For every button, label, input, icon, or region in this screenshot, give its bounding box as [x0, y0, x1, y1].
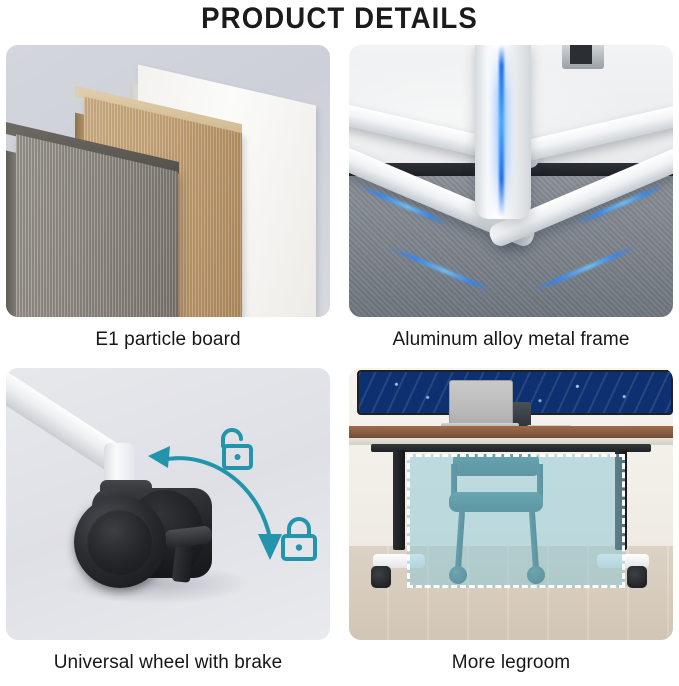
laptop — [449, 380, 513, 426]
caption-universal-wheel: Universal wheel with brake — [6, 640, 330, 686]
caption-particle-board: E1 particle board — [6, 317, 330, 363]
desk-top-surface — [349, 426, 673, 438]
detail-cell-universal-wheel: Universal wheel with brake — [6, 368, 330, 686]
desk-caster-left — [371, 566, 391, 588]
page-title: PRODUCT DETAILS — [27, 2, 652, 36]
column-glow-core — [499, 45, 504, 217]
legroom-photo — [349, 368, 673, 640]
caption-legroom: More legroom — [349, 640, 673, 686]
legroom-highlight-area — [407, 454, 625, 588]
product-details-page: PRODUCT DETAILS E1 particle board — [0, 0, 679, 673]
caption-metal-frame: Aluminum alloy metal frame — [349, 317, 673, 363]
universal-wheel-photo — [6, 368, 330, 640]
lock-icon — [278, 516, 320, 564]
detail-cell-particle-board: E1 particle board — [6, 45, 330, 363]
wall-fixture-inner — [570, 45, 592, 64]
unlock-icon — [211, 426, 257, 474]
metal-frame-photo — [349, 45, 673, 317]
wall-fixture — [562, 45, 604, 69]
desk-support-beam — [371, 444, 651, 452]
detail-cell-legroom: More legroom — [349, 368, 673, 686]
desk-leg-post-left — [393, 450, 405, 550]
desk-caster-right — [627, 566, 647, 588]
details-grid: E1 particle board — [6, 45, 673, 671]
caster-wheel-hub — [87, 509, 153, 575]
particle-board-photo — [6, 45, 330, 317]
detail-cell-metal-frame: Aluminum alloy metal frame — [349, 45, 673, 363]
